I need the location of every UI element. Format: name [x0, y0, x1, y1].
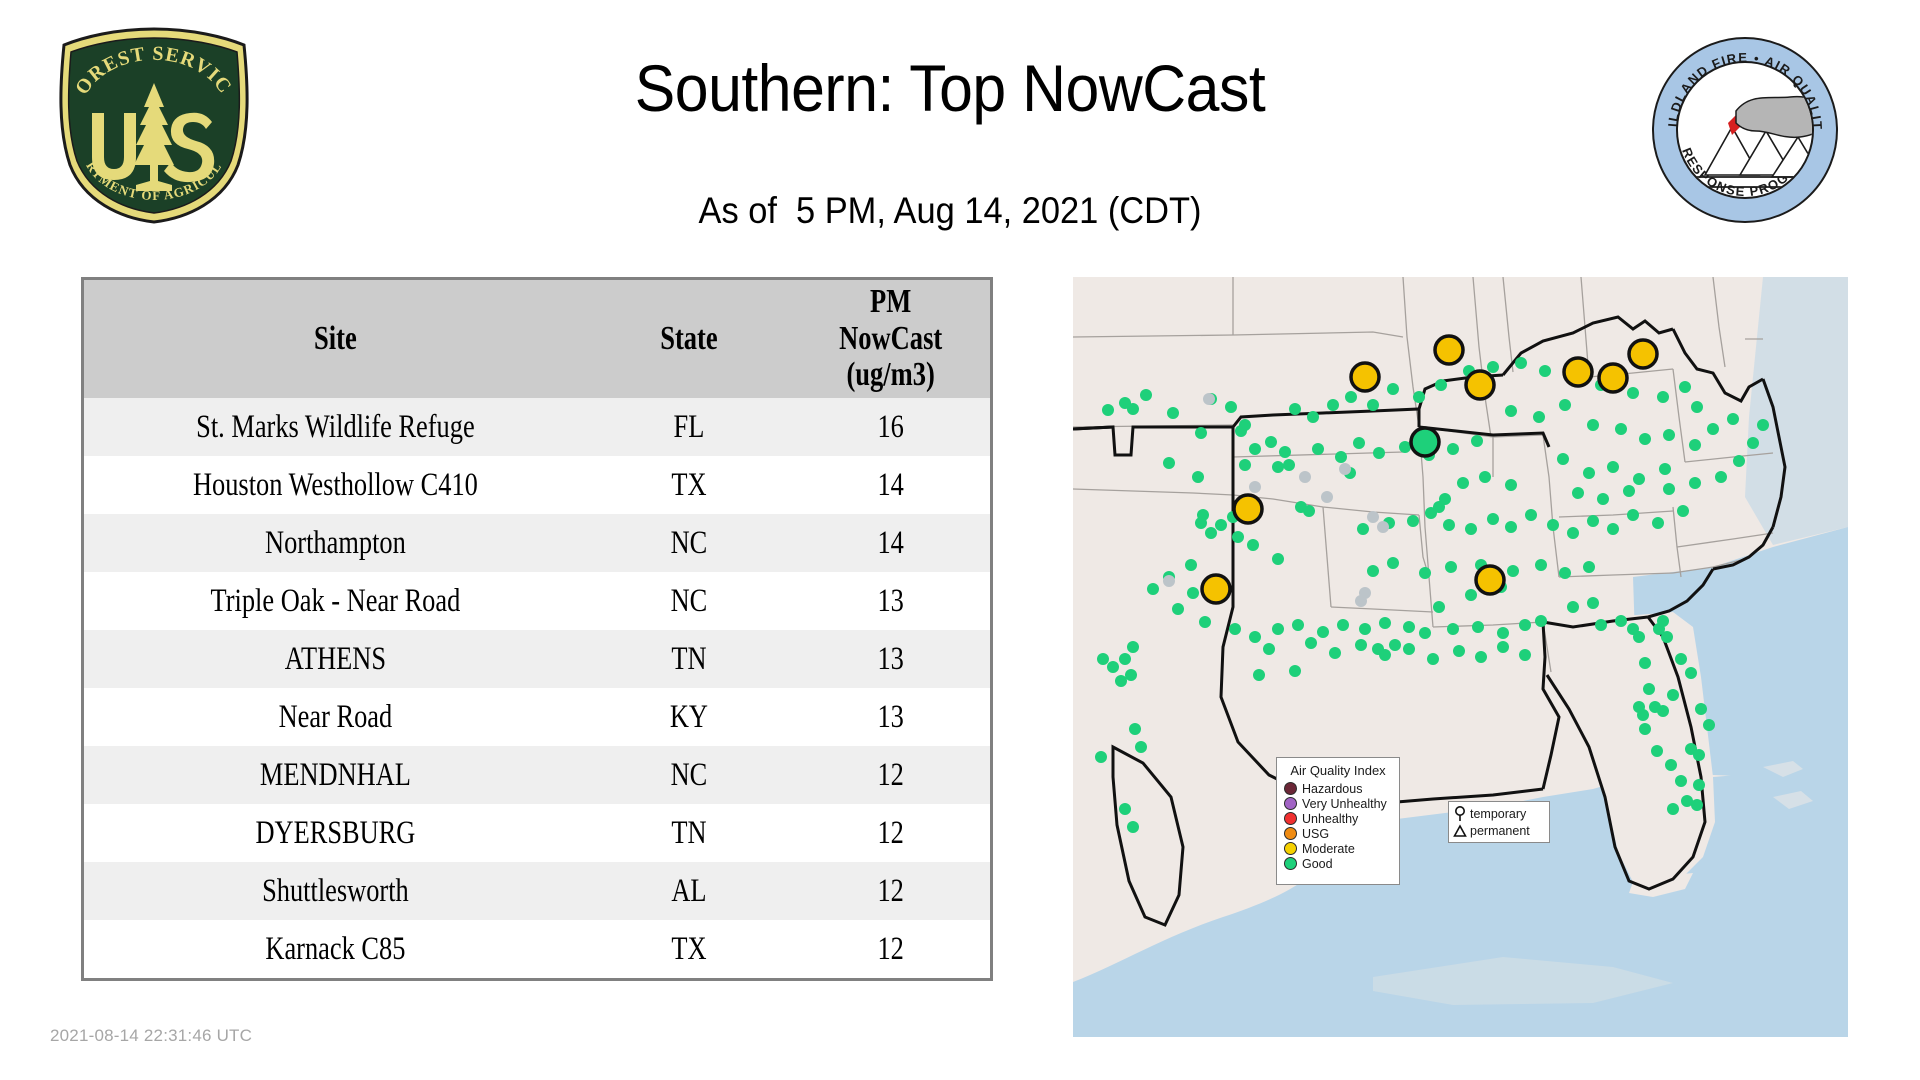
aqi-legend-row: Good: [1284, 856, 1392, 871]
permanent-monitor-icon: [1453, 824, 1467, 838]
table-row: ATHENSTN13: [84, 630, 990, 688]
generated-timestamp: 2021-08-14 22:31:46 UTC: [50, 1026, 252, 1046]
cell-value: 13: [811, 630, 970, 688]
table-row: Houston Westhollow C410TX14: [84, 456, 990, 514]
aqi-swatch-icon: [1284, 812, 1297, 825]
table-body: St. Marks Wildlife RefugeFL16Houston Wes…: [84, 398, 990, 978]
cell-value: 13: [811, 572, 970, 630]
aqi-legend-label: Good: [1302, 857, 1333, 871]
cell-value: 14: [811, 514, 970, 572]
cell-site: Near Road: [134, 688, 536, 746]
air-quality-index-legend: Air Quality Index HazardousVery Unhealth…: [1276, 757, 1400, 885]
table-row: St. Marks Wildlife RefugeFL16: [84, 398, 990, 456]
marker-triple-oak-near-road[interactable]: [1599, 364, 1627, 392]
forest-service-logo: FOREST SERVICE DEPARTMENT OF AGRICULTURE: [52, 25, 257, 225]
cell-state: AL: [607, 862, 770, 920]
pm-header-line-2: NowCast: [813, 321, 968, 358]
cell-site: ATHENS: [134, 630, 536, 688]
aqi-legend-label: USG: [1302, 827, 1329, 841]
map-canvas: [1073, 277, 1848, 1037]
cell-site: Karnack C85: [134, 920, 536, 978]
marker-shuttlesworth[interactable]: [1411, 428, 1439, 456]
cell-value: 12: [811, 804, 970, 862]
pm-header-line-1: PM: [813, 284, 968, 321]
marker-houston-westhollow-c410[interactable]: [1202, 575, 1230, 603]
cell-state: TN: [607, 804, 770, 862]
column-header-pm-nowcast: PM NowCast (ug/m3): [813, 280, 968, 398]
cell-site: DYERSBURG: [134, 804, 536, 862]
page-subtitle: As of 5 PM, Aug 14, 2021 (CDT): [308, 190, 1591, 232]
cell-state: TN: [607, 630, 770, 688]
cell-state: FL: [607, 398, 770, 456]
legend-label-temporary: temporary: [1470, 807, 1526, 821]
temporary-monitor-icon: [1453, 806, 1467, 822]
aqi-swatch-icon: [1284, 827, 1297, 840]
marker-dyersburg[interactable]: [1351, 363, 1379, 391]
cell-value: 16: [811, 398, 970, 456]
column-header-site: Site: [139, 280, 531, 398]
marker-athens[interactable]: [1466, 371, 1494, 399]
aqi-swatch-icon: [1284, 857, 1297, 870]
marker-near-road-ky[interactable]: [1435, 336, 1463, 364]
top-nowcast-table: Site State PM NowCast (ug/m3) St. Marks …: [81, 277, 993, 981]
table-row: NorthamptonNC14: [84, 514, 990, 572]
wfaqrp-logo: WILDLAND FIRE • AIR QUALITY RESPONSE PRO…: [1650, 35, 1840, 225]
aqi-legend-label: Unhealthy: [1302, 812, 1358, 826]
aqi-legend-title: Air Quality Index: [1284, 763, 1392, 778]
cell-value: 12: [811, 862, 970, 920]
aqi-legend-row: Hazardous: [1284, 781, 1392, 796]
table-row: ShuttlesworthAL12: [84, 862, 990, 920]
cell-value: 14: [811, 456, 970, 514]
southern-region-monitor-map[interactable]: [1073, 277, 1848, 1037]
legend-row-permanent: permanent: [1453, 822, 1545, 839]
cell-state: TX: [607, 920, 770, 978]
pm-header-line-3: (ug/m3): [813, 357, 968, 394]
cell-site: Houston Westhollow C410: [134, 456, 536, 514]
aqi-legend-row: Moderate: [1284, 841, 1392, 856]
forest-service-shield-icon: FOREST SERVICE DEPARTMENT OF AGRICULTURE: [52, 25, 257, 225]
aqi-swatch-icon: [1284, 782, 1297, 795]
cell-site: MENDNHAL: [134, 746, 536, 804]
aqi-legend-row: Very Unhealthy: [1284, 796, 1392, 811]
monitor-type-legend: temporary permanent: [1448, 801, 1550, 843]
marker-st-marks-wildlife-refuge[interactable]: [1476, 566, 1504, 594]
aqi-legend-label: Moderate: [1302, 842, 1355, 856]
cell-site: Shuttlesworth: [134, 862, 536, 920]
cell-site: Triple Oak - Near Road: [134, 572, 536, 630]
cell-state: TX: [607, 456, 770, 514]
cell-state: KY: [607, 688, 770, 746]
cell-value: 12: [811, 746, 970, 804]
aqi-legend-row: USG: [1284, 826, 1392, 841]
wildland-fire-air-quality-icon: WILDLAND FIRE • AIR QUALITY RESPONSE PRO…: [1650, 35, 1840, 225]
marker-karnack-c85[interactable]: [1234, 495, 1262, 523]
table-row: MENDNHALNC12: [84, 746, 990, 804]
cell-site: St. Marks Wildlife Refuge: [134, 398, 536, 456]
aqi-legend-label: Very Unhealthy: [1302, 797, 1387, 811]
legend-row-temporary: temporary: [1453, 805, 1545, 822]
marker-northampton[interactable]: [1629, 340, 1657, 368]
cell-state: NC: [607, 572, 770, 630]
aqi-legend-label: Hazardous: [1302, 782, 1362, 796]
page-title: Southern: Top NowCast: [315, 52, 1585, 125]
table-row: Near RoadKY13: [84, 688, 990, 746]
aqi-legend-row: Unhealthy: [1284, 811, 1392, 826]
aqi-swatch-icon: [1284, 797, 1297, 810]
cell-value: 13: [811, 688, 970, 746]
cell-value: 12: [811, 920, 970, 978]
cell-site: Northampton: [134, 514, 536, 572]
table-header-row: Site State PM NowCast (ug/m3): [84, 280, 990, 398]
cell-state: NC: [607, 746, 770, 804]
table-row: Triple Oak - Near RoadNC13: [84, 572, 990, 630]
marker-mendnhal[interactable]: [1564, 358, 1592, 386]
table-row: DYERSBURGTN12: [84, 804, 990, 862]
table-row: Karnack C85TX12: [84, 920, 990, 978]
aqi-swatch-icon: [1284, 842, 1297, 855]
cell-state: NC: [607, 514, 770, 572]
legend-label-permanent: permanent: [1470, 824, 1530, 838]
column-header-state: State: [609, 280, 768, 398]
